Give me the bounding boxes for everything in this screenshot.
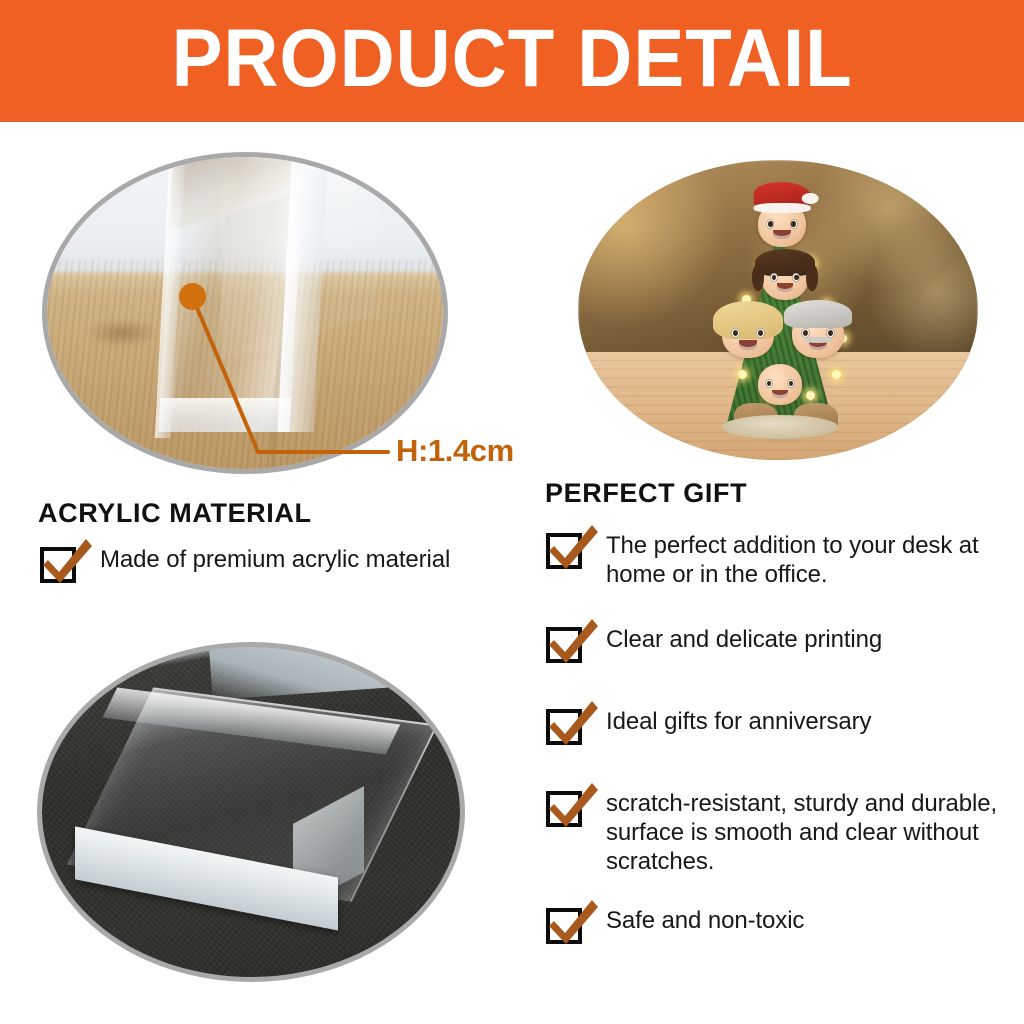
checkbox-checked-icon	[40, 547, 76, 583]
header-banner: PRODUCT DETAIL	[0, 0, 1024, 122]
wood-table-background	[47, 157, 443, 469]
feature-text: Made of premium acrylic material	[100, 545, 450, 574]
braid-left	[752, 264, 764, 291]
string-light	[832, 370, 841, 379]
checkbox-checked-icon	[546, 908, 582, 944]
page-title: PRODUCT DETAIL	[172, 18, 853, 104]
hair	[713, 301, 783, 338]
santa-hat-icon	[754, 182, 811, 207]
family-face-man	[792, 310, 844, 358]
acrylic-block-photo	[42, 647, 460, 977]
string-light	[738, 370, 747, 379]
family-face-girl-braids	[762, 256, 808, 300]
checkbox-checked-icon	[546, 627, 582, 663]
checkbox-checked-icon	[546, 533, 582, 569]
feature-item: Safe and non-toxic	[546, 906, 1001, 944]
checkbox-checked-icon	[546, 709, 582, 745]
feature-item: The perfect addition to your desk at hom…	[546, 531, 1001, 589]
product-photo	[578, 160, 978, 460]
section-heading-perfect-gift: PERFECT GIFT	[545, 478, 747, 509]
braid-right	[806, 264, 818, 291]
acrylic-edge-photo	[47, 157, 443, 469]
moustache	[804, 337, 831, 343]
feature-text: The perfect addition to your desk at hom…	[606, 531, 1001, 589]
feature-item: scratch-resistant, sturdy and durable, s…	[546, 789, 1006, 876]
section-heading-acrylic-material: ACRYLIC MATERIAL	[38, 498, 312, 529]
feature-item: Made of premium acrylic material	[40, 545, 510, 583]
feature-text: Ideal gifts for anniversary	[606, 707, 871, 736]
feature-item: Clear and delicate printing	[546, 625, 1001, 663]
feature-item: Ideal gifts for anniversary	[546, 707, 1001, 745]
thickness-annotation-label: H:1.4cm	[396, 433, 514, 469]
string-light	[806, 391, 815, 400]
family-face-child-santa-hat	[758, 202, 806, 247]
feature-text: Safe and non-toxic	[606, 906, 804, 935]
feature-text: scratch-resistant, sturdy and durable, s…	[606, 789, 1006, 876]
hair	[784, 300, 852, 328]
figurine-base	[722, 415, 838, 439]
thickness-annotation-dot	[179, 283, 206, 310]
family-face-woman	[722, 310, 774, 358]
checkbox-checked-icon	[546, 791, 582, 827]
feature-text: Clear and delicate printing	[606, 625, 882, 654]
family-face-baby	[758, 364, 802, 405]
